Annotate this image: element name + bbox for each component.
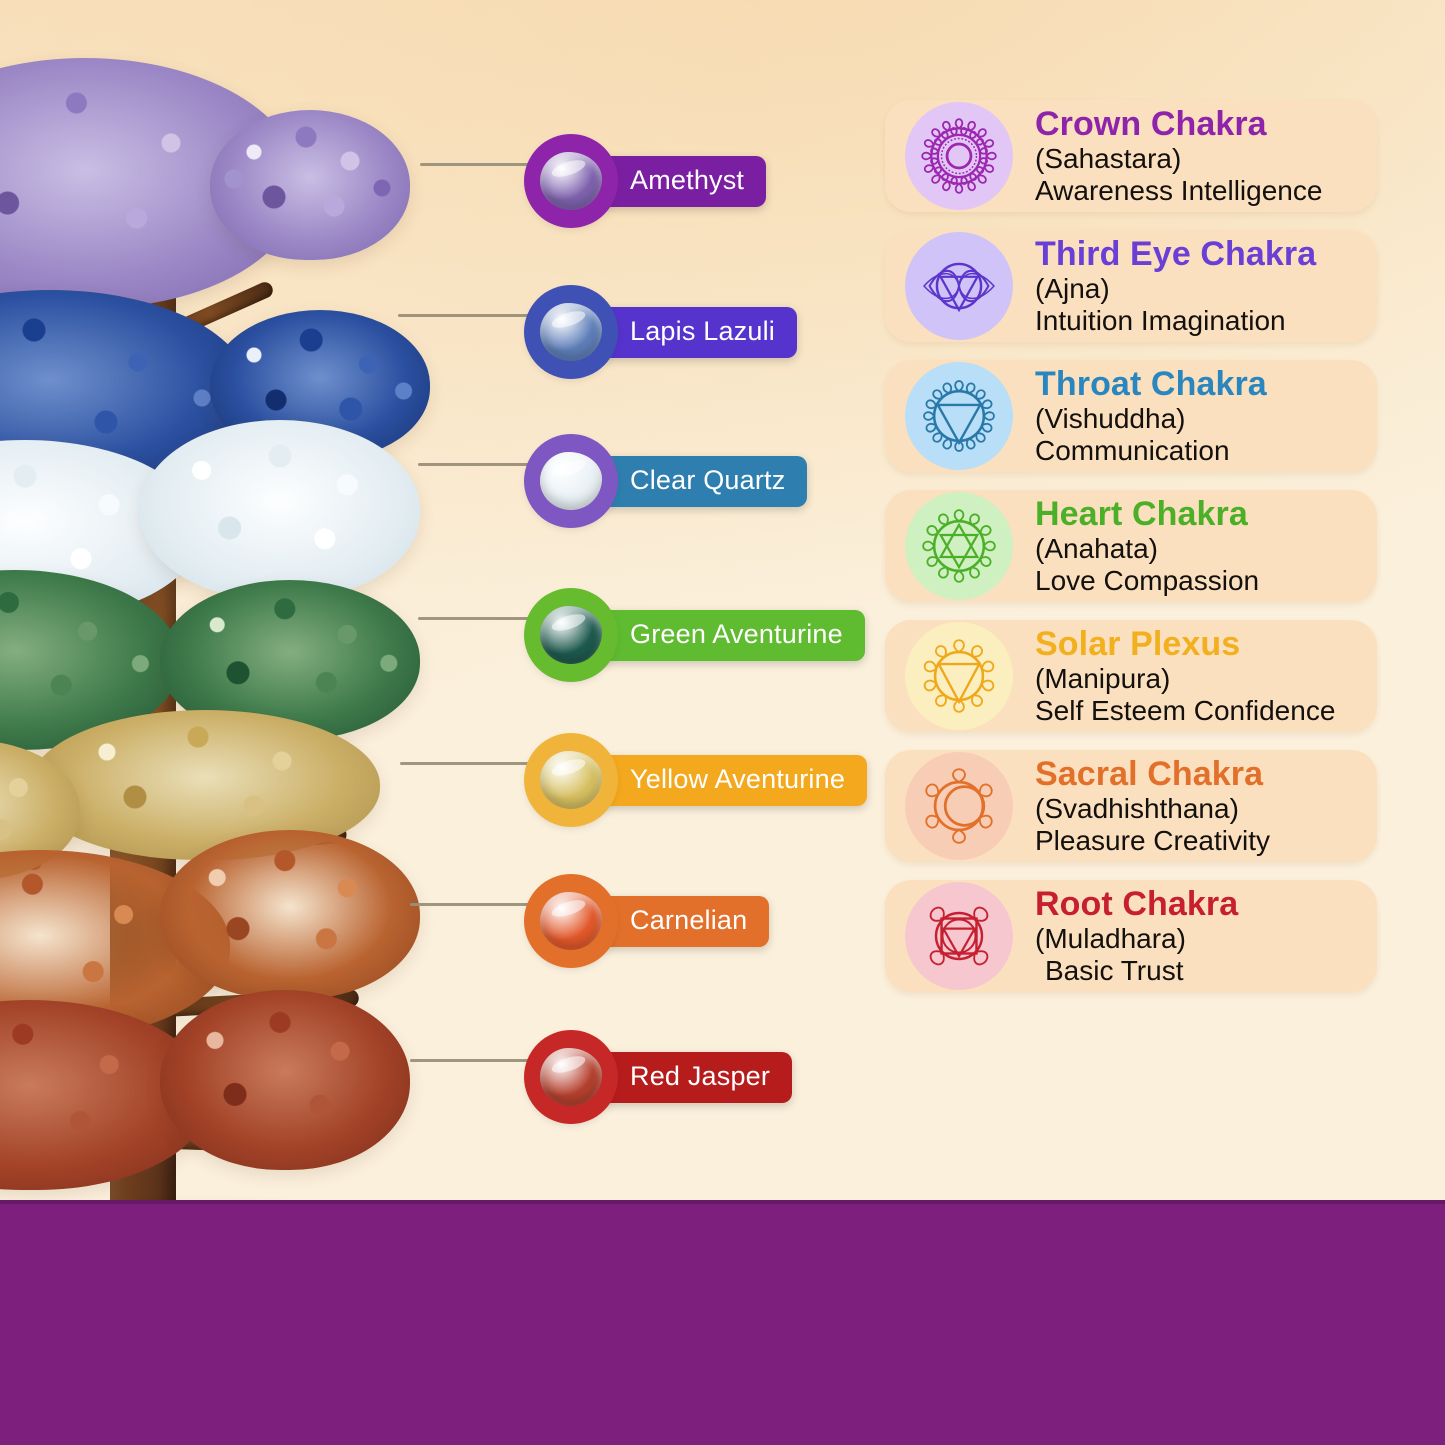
chakra-card-text: Heart Chakra (Anahata) Love Compassion xyxy=(1035,495,1259,598)
infographic-canvas: Amethyst Lapis Lazuli Clear Quartz Green… xyxy=(0,0,1445,1445)
chakra-card[interactable]: Root Chakra (Muladhara) Basic Trust xyxy=(885,880,1377,992)
connector-line-yellow-aventurine xyxy=(400,762,540,765)
stone-name-badge[interactable]: Yellow Aventurine xyxy=(590,755,867,806)
stone-row[interactable]: Red Jasper xyxy=(528,1034,792,1120)
foliage-amethyst xyxy=(210,110,410,260)
chakra-card[interactable]: Throat Chakra (Vishuddha) Communication xyxy=(885,360,1377,472)
chakra-card-text: Root Chakra (Muladhara) Basic Trust xyxy=(1035,885,1238,988)
stone-row[interactable]: Lapis Lazuli xyxy=(528,289,797,375)
chakra-title: Heart Chakra xyxy=(1035,495,1259,533)
chakra-title: Sacral Chakra xyxy=(1035,755,1270,793)
connector-line-green-aventurine xyxy=(418,617,540,620)
footer-band xyxy=(0,1200,1445,1445)
chakra-sanskrit-name: (Muladhara) xyxy=(1035,923,1238,955)
foliage-carnelian xyxy=(160,830,420,1000)
chakra-keywords: Pleasure Creativity xyxy=(1035,825,1270,857)
connector-line-red-jasper xyxy=(410,1059,540,1062)
stone-row[interactable]: Carnelian xyxy=(528,878,769,964)
stone-row[interactable]: Amethyst xyxy=(528,138,766,224)
stone-row[interactable]: Green Aventurine xyxy=(528,592,865,678)
stone-thumbnail xyxy=(528,592,614,678)
chakra-keywords: Love Compassion xyxy=(1035,565,1259,597)
chakra-title: Solar Plexus xyxy=(1035,625,1335,663)
stone-thumbnail xyxy=(528,1034,614,1120)
third-eye-chakra-icon xyxy=(905,232,1013,340)
chakra-card[interactable]: Heart Chakra (Anahata) Love Compassion xyxy=(885,490,1377,602)
stone-name-badge[interactable]: Red Jasper xyxy=(590,1052,792,1103)
connector-line-amethyst xyxy=(420,163,540,166)
chakra-keywords: Intuition Imagination xyxy=(1035,305,1316,337)
stone-thumbnail xyxy=(528,878,614,964)
stone-thumbnail xyxy=(528,438,614,524)
solar-plexus-chakra-icon xyxy=(905,622,1013,730)
crown-chakra-mandala-icon xyxy=(905,102,1013,210)
stone-name-badge[interactable]: Clear Quartz xyxy=(590,456,807,507)
throat-chakra-icon xyxy=(905,362,1013,470)
chakra-card-text: Solar Plexus (Manipura) Self Esteem Conf… xyxy=(1035,625,1335,728)
chakra-title: Root Chakra xyxy=(1035,885,1238,923)
heart-chakra-hexagram-icon xyxy=(905,492,1013,600)
chakra-card-text: Sacral Chakra (Svadhishthana) Pleasure C… xyxy=(1035,755,1270,858)
foliage-clear-quartz xyxy=(140,420,420,600)
foliage-red-jasper xyxy=(160,990,410,1170)
connector-line-lapis-lazuli xyxy=(398,314,540,317)
chakra-card[interactable]: Third Eye Chakra (Ajna) Intuition Imagin… xyxy=(885,230,1377,342)
chakra-sanskrit-name: (Sahastara) xyxy=(1035,143,1322,175)
chakra-sanskrit-name: (Vishuddha) xyxy=(1035,403,1267,435)
stone-name-badge[interactable]: Green Aventurine xyxy=(590,610,865,661)
stone-thumbnail xyxy=(528,289,614,375)
chakra-title: Third Eye Chakra xyxy=(1035,235,1316,273)
stone-thumbnail xyxy=(528,138,614,224)
connector-line-carnelian xyxy=(410,903,540,906)
chakra-card[interactable]: Sacral Chakra (Svadhishthana) Pleasure C… xyxy=(885,750,1377,862)
chakra-card-text: Throat Chakra (Vishuddha) Communication xyxy=(1035,365,1267,468)
chakra-card-list: Crown Chakra (Sahastara) Awareness Intel… xyxy=(885,100,1377,1010)
chakra-card[interactable]: Crown Chakra (Sahastara) Awareness Intel… xyxy=(885,100,1377,212)
chakra-sanskrit-name: (Ajna) xyxy=(1035,273,1316,305)
chakra-sanskrit-name: (Manipura) xyxy=(1035,663,1335,695)
chakra-keywords: Communication xyxy=(1035,435,1267,467)
chakra-keywords: Self Esteem Confidence xyxy=(1035,695,1335,727)
sacral-chakra-crescent-icon xyxy=(905,752,1013,860)
chakra-sanskrit-name: (Anahata) xyxy=(1035,533,1259,565)
chakra-title: Throat Chakra xyxy=(1035,365,1267,403)
chakra-card-text: Crown Chakra (Sahastara) Awareness Intel… xyxy=(1035,105,1322,208)
chakra-card-text: Third Eye Chakra (Ajna) Intuition Imagin… xyxy=(1035,235,1316,338)
connector-line-clear-quartz xyxy=(418,463,540,466)
chakra-card[interactable]: Solar Plexus (Manipura) Self Esteem Conf… xyxy=(885,620,1377,732)
chakra-keywords: Awareness Intelligence xyxy=(1035,175,1322,207)
chakra-title: Crown Chakra xyxy=(1035,105,1322,143)
stone-thumbnail xyxy=(528,737,614,823)
chakra-sanskrit-name: (Svadhishthana) xyxy=(1035,793,1270,825)
stone-row[interactable]: Clear Quartz xyxy=(528,438,807,524)
chakra-keywords: Basic Trust xyxy=(1035,955,1238,987)
stone-name-badge[interactable]: Lapis Lazuli xyxy=(590,307,797,358)
stone-row[interactable]: Yellow Aventurine xyxy=(528,737,867,823)
root-chakra-icon xyxy=(905,882,1013,990)
